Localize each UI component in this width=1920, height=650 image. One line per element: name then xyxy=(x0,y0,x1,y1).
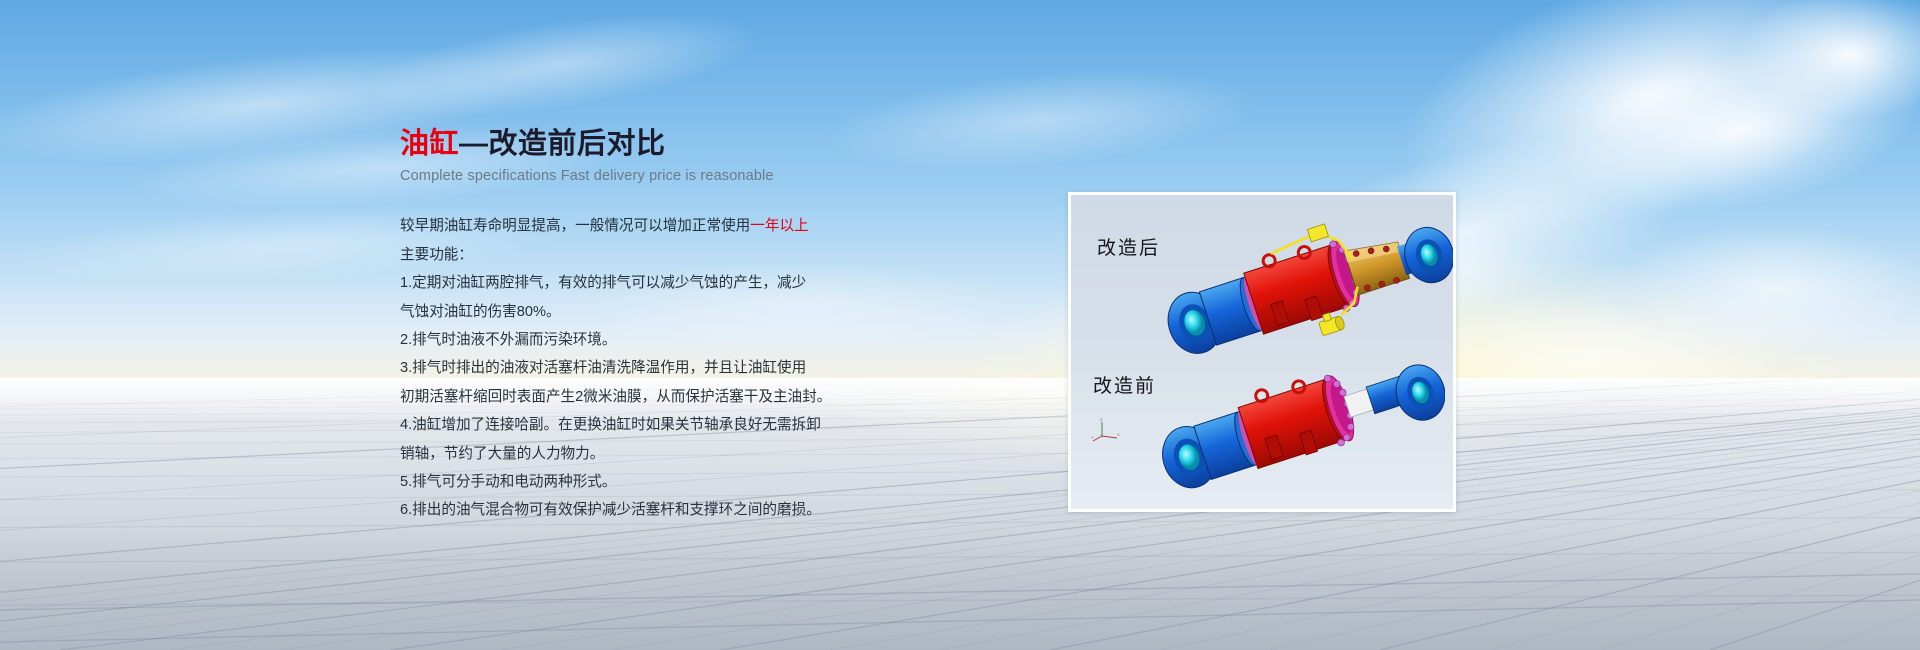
page-subtitle: Complete specifications Fast delivery pr… xyxy=(400,168,920,184)
figure-label-after: 改造后 xyxy=(1097,233,1160,260)
page-title-highlight: 油缸 xyxy=(400,128,459,160)
body-text: 较早期油缸寿命明显提高，一般情况可以增加正常使用 xyxy=(400,218,750,234)
page-title: 油缸—改造前后对比 xyxy=(400,128,920,161)
svg-text:Y: Y xyxy=(1091,435,1094,440)
body-text: 初期活塞杆缩回时表面产生2微米油膜，从而保护活塞干及主油封。 xyxy=(400,389,831,405)
svg-text:Z: Z xyxy=(1100,417,1103,422)
body-line-intro-1: 较早期油缸寿命明显提高，一般情况可以增加正常使用一年以上 xyxy=(400,212,920,240)
cad-axis-triad-icon: Z X Y xyxy=(1091,417,1121,447)
svg-text:X: X xyxy=(1117,432,1120,437)
ground-plaza xyxy=(0,378,1920,650)
sky-background xyxy=(0,0,1920,400)
body-line-item-4b: 销轴，节约了大量的人力物力。 xyxy=(400,440,920,468)
feature-description: 较早期油缸寿命明显提高，一般情况可以增加正常使用一年以上主要功能：1.定期对油缸… xyxy=(400,212,920,524)
body-text: 3.排气时排出的油液对活塞杆油清洗降温作用，并且让油缸使用 xyxy=(400,360,806,376)
body-line-item-3a: 3.排气时排出的油液对活塞杆油清洗降温作用，并且让油缸使用 xyxy=(400,354,920,382)
body-line-item-1b: 气蚀对油缸的伤害80%。 xyxy=(400,298,920,326)
page-title-rest: —改造前后对比 xyxy=(459,128,666,160)
hydraulic-cylinder-after-render xyxy=(1155,207,1455,367)
body-text: 1.定期对油缸两腔排气，有效的排气可以减少气蚀的产生，减少 xyxy=(400,275,806,291)
body-text: 6.排出的油气混合物可有效保护减少活塞杆和支撑环之间的磨损。 xyxy=(400,502,821,518)
body-text: 2.排气时油液不外漏而污染环境。 xyxy=(400,332,617,348)
body-text: 销轴，节约了大量的人力物力。 xyxy=(400,446,604,462)
body-text: 4.油缸增加了连接哈副。在更换油缸时如果关节轴承良好无需拆卸 xyxy=(400,417,821,433)
ground-vignette xyxy=(0,530,1920,650)
body-text: 5.排气可分手动和电动两种形式。 xyxy=(400,474,617,490)
body-accent-text: 一年以上 xyxy=(750,218,808,234)
comparison-figure-panel[interactable]: 改造后 改造前 Z X Y xyxy=(1068,192,1456,512)
promo-banner: 油缸—改造前后对比 Complete specifications Fast d… xyxy=(0,0,1920,650)
body-text: 气蚀对油缸的伤害80%。 xyxy=(400,304,561,320)
horizon-haze xyxy=(0,378,1920,422)
body-line-item-1a: 1.定期对油缸两腔排气，有效的排气可以减少气蚀的产生，减少 xyxy=(400,269,920,297)
body-line-item-5: 5.排气可分手动和电动两种形式。 xyxy=(400,468,920,496)
body-line-item-6: 6.排出的油气混合物可有效保护减少活塞杆和支撑环之间的磨损。 xyxy=(400,496,920,524)
body-line-item-2: 2.排气时油液不外漏而污染环境。 xyxy=(400,326,920,354)
text-column: 油缸—改造前后对比 Complete specifications Fast d… xyxy=(400,128,920,525)
body-text: 主要功能： xyxy=(400,247,473,263)
body-line-intro-2: 主要功能： xyxy=(400,241,920,269)
hydraulic-cylinder-before-render xyxy=(1145,347,1445,507)
body-line-item-4a: 4.油缸增加了连接哈副。在更换油缸时如果关节轴承良好无需拆卸 xyxy=(400,411,920,439)
body-line-item-3b: 初期活塞杆缩回时表面产生2微米油膜，从而保护活塞干及主油封。 xyxy=(400,383,920,411)
